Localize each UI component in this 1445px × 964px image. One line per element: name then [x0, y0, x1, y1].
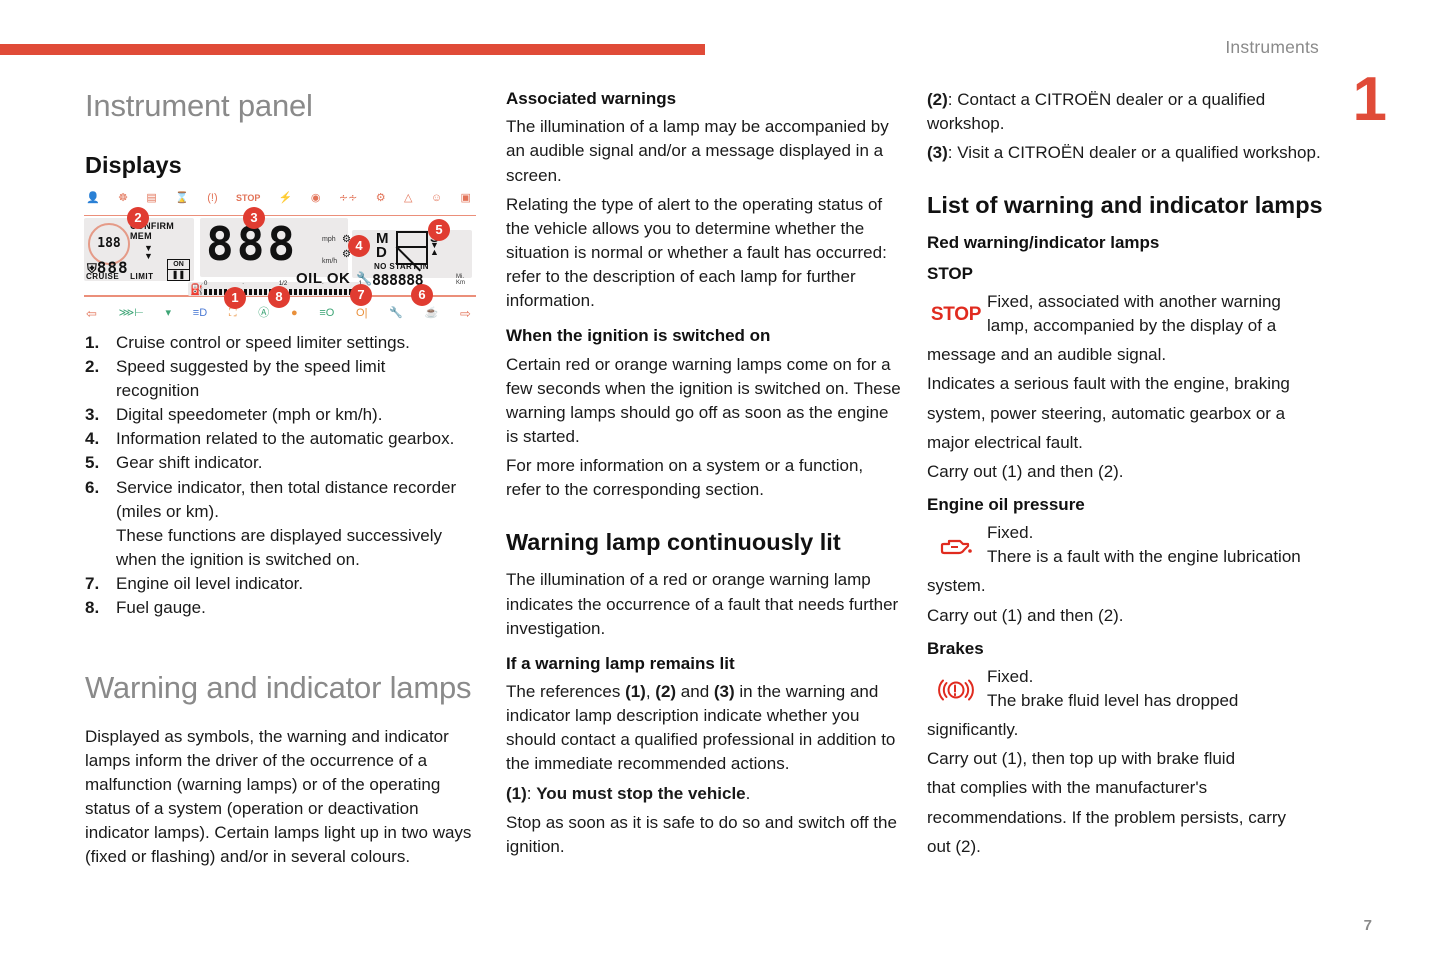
rear-fog-icon: ⋙⊢ — [119, 308, 144, 319]
seatbelt-rear-icon: ● — [291, 308, 298, 319]
parking-lights-icon: O| — [356, 308, 367, 319]
lamp-stop-body-4: major electrical fault. — [927, 431, 1325, 455]
lamp-brakes-body-1: significantly. — [927, 718, 1325, 742]
stop-text-icon: STOP — [927, 292, 985, 338]
mem-label: MEM — [130, 231, 152, 241]
cruise-label: CRUISE — [86, 272, 119, 281]
door-open-icon: △ — [404, 193, 412, 204]
speed-limit-value: 188 — [97, 236, 120, 251]
oil-pressure-icon: ☸ — [118, 193, 128, 204]
lamp-stop-body-5: Carry out (1) and then (2). — [927, 460, 1325, 484]
indicator-right-icon: ⇨ — [460, 307, 471, 320]
lamp-name-oil-pressure: Engine oil pressure — [927, 494, 1325, 515]
ref-1-label: (1) — [506, 784, 527, 803]
child-seat-icon: ☺ — [431, 193, 442, 204]
ref-2-label: (2) — [927, 90, 948, 109]
stop-icon: STOP — [236, 194, 260, 203]
warning-lamps-title: Warning and indicator lamps — [85, 670, 482, 707]
lamp-brakes-body-4: recommendations. If the problem persists… — [927, 806, 1325, 830]
oil-can-icon — [927, 523, 985, 569]
list-item-text: Fuel gauge. — [116, 596, 482, 620]
list-item: 7.Engine oil level indicator. — [85, 572, 482, 596]
lamp-stop-body-1: message and an audible signal. — [927, 343, 1325, 367]
list-item-text: Information related to the automatic gea… — [116, 427, 482, 451]
callout-4: 4 — [348, 235, 370, 257]
displays-heading: Displays — [85, 151, 482, 179]
callout-8: 8 — [268, 286, 290, 308]
red-lamps-heading: Red warning/indicator lamps — [927, 232, 1325, 253]
lamp-brakes-line-2: The brake fluid level has dropped — [987, 689, 1325, 713]
list-item-text: Cruise control or speed limiter settings… — [116, 331, 482, 355]
lamp-list-title: List of warning and indicator lamps — [927, 191, 1325, 219]
lamp-brakes-body-2: Carry out (1), then top up with brake fl… — [927, 747, 1325, 771]
lamp-oil-body-1: system. — [927, 574, 1325, 598]
list-item: 1.Cruise control or speed limiter settin… — [85, 331, 482, 355]
list-item-number: 2. — [85, 355, 99, 379]
telltale-row-bottom: ⇦ ⋙⊢ ▾ ≡D ⛶ Ⓐ ● ≡O O| 🔧 ☕ ⇨ — [86, 307, 471, 320]
instrument-panel-figure: 👤‍ ☸ ▤ ⌛ (!) STOP ⚡ ◉ ∻∻ ⚙ △ ☺ ▣ 188 CON… — [84, 193, 476, 321]
list-item-number: 7. — [85, 572, 99, 596]
electrical-fault-icon: ⚡ — [279, 193, 293, 204]
screenwash-icon: ☕ — [425, 308, 439, 319]
brake-warning-icon: (!) — [207, 193, 217, 204]
header-chapter-label: Instruments — [1225, 37, 1319, 58]
down-arrows-icon: ▼▼ — [144, 244, 153, 260]
front-fog-icon: ≡O — [319, 308, 334, 319]
chapter-number-marker: 1 — [1353, 74, 1387, 127]
camera-icon: ▣ — [460, 193, 470, 204]
ref-1-inline: (1) — [625, 682, 646, 701]
pause-icon: ❚❚ — [168, 269, 189, 280]
fuel-pump-icon: ⛽ — [190, 283, 204, 296]
seatbelt-icon: 👤‍ — [86, 193, 100, 204]
oil-can-icon-svg — [939, 535, 973, 557]
ref-3-inline: (3) — [714, 682, 735, 701]
associated-warnings-p1: The illumination of a lamp may be accomp… — [506, 115, 902, 187]
list-item: 8.Fuel gauge. — [85, 596, 482, 620]
continuously-lit-title: Warning lamp continuously lit — [506, 528, 902, 556]
column-left: Instrument panel Displays 👤‍ ☸ ▤ ⌛ (!) S… — [85, 88, 482, 875]
list-item-number: 3. — [85, 403, 99, 427]
ref-1-bold-text: You must stop the vehicle — [536, 784, 745, 803]
continuously-lit-body: The illumination of a red or orange warn… — [506, 568, 902, 640]
lamp-brakes-line-1: Fixed. — [987, 665, 1325, 689]
lamp-oil-body-2: Carry out (1) and then (2). — [927, 604, 1325, 628]
list-item-number: 8. — [85, 596, 99, 620]
callout-3: 3 — [243, 207, 265, 229]
lamp-stop-line-2: lamp, accompanied by the display of a — [987, 314, 1325, 338]
cruise-limit-labels: CRUISE LIMIT — [86, 272, 154, 281]
callout-1: 1 — [224, 287, 246, 309]
cruise-on-toggle-indicator: ON ❚❚ — [167, 259, 190, 281]
lamp-entry-brakes: Fixed. The brake fluid level has dropped — [927, 665, 1325, 713]
lamp-entry-oil-pressure: Fixed. There is a fault with the engine … — [927, 521, 1325, 569]
no-start-in-label: NO START IN — [374, 262, 429, 271]
airbag-icon: ◉ — [311, 193, 321, 204]
fuel-low-icon: ⛶ — [229, 308, 237, 319]
list-item-number: 1. — [85, 331, 99, 355]
ref-1-colon: : — [527, 784, 536, 803]
list-item: 2.Speed suggested by the speed limitreco… — [85, 355, 482, 403]
callout-2: 2 — [127, 207, 149, 229]
list-item-number: 4. — [85, 427, 99, 451]
gear-shift-arrows-icon: ▼▲ — [430, 242, 439, 257]
lamp-name-stop: STOP — [927, 263, 1325, 284]
lamp-oil-inline-text: Fixed. There is a fault with the engine … — [987, 521, 1325, 569]
lamp-stop-body-3: system, power steering, automatic gearbo… — [927, 402, 1325, 426]
gear-indicator-box — [396, 231, 428, 265]
list-item-text-cont: recognition — [116, 379, 482, 403]
list-item-text: Engine oil level indicator. — [116, 572, 482, 596]
limit-label: LIMIT — [130, 272, 153, 281]
coolant-temp-icon: ⌛ — [175, 193, 189, 204]
lamp-stop-body-2: Indicates a serious fault with the engin… — [927, 372, 1325, 396]
column-middle: Associated warnings The illumination of … — [506, 88, 902, 864]
lamp-stop-inline-text: Fixed, associated with another warning l… — [987, 290, 1325, 338]
lamp-brakes-body-3: that complies with the manufacturer's — [927, 776, 1325, 800]
page-number: 7 — [1364, 917, 1372, 934]
on-label: ON — [168, 260, 189, 269]
side-lights-icon: ≡D — [193, 308, 207, 319]
battery-charge-icon: ▤ — [146, 193, 156, 204]
header-accent-bar — [0, 44, 705, 55]
list-item: 5.Gear shift indicator. — [85, 451, 482, 475]
glow-plug-icon: ∻∻ — [339, 193, 357, 204]
ref-1-follow-text: Stop as soon as it is safe to do so and … — [506, 811, 902, 859]
ignition-heading: When the ignition is switched on — [506, 325, 902, 346]
ref-1-period: . — [746, 784, 751, 803]
unit-mph-label: mph — [322, 236, 336, 243]
gear-mode-letters: MD — [376, 232, 389, 261]
associated-warnings-p2: Relating the type of alert to the operat… — [506, 193, 902, 314]
ref-3-text: : Visit a CITROËN dealer or a qualified … — [948, 143, 1321, 162]
list-item-text-cont: (miles or km). — [116, 500, 482, 524]
page-title: Instrument panel — [85, 88, 482, 125]
list-item: 6.Service indicator, then total distance… — [85, 476, 482, 573]
list-item-text: Service indicator, then total distance r… — [116, 476, 482, 500]
list-item-text-cont: when the ignition is switched on. — [116, 548, 482, 572]
remains-lit-paragraph: The references (1), (2) and (3) in the w… — [506, 680, 902, 777]
list-item: 3.Digital speedometer (mph or km/h). — [85, 403, 482, 427]
telltale-row-top: 👤‍ ☸ ▤ ⌛ (!) STOP ⚡ ◉ ∻∻ ⚙ △ ☺ ▣ — [86, 193, 471, 204]
ignition-p2: For more information on a system or a fu… — [506, 454, 902, 502]
list-item-text: Speed suggested by the speed limit — [116, 355, 482, 379]
brake-warning-icon-svg — [938, 676, 974, 704]
ref-sep1: , — [646, 682, 655, 701]
lamp-stop-line-1: Fixed, associated with another warning — [987, 290, 1325, 314]
list-item-number: 5. — [85, 451, 99, 475]
lamp-oil-line-1: Fixed. — [987, 521, 1325, 545]
unit-kmh-label: km/h — [322, 258, 337, 265]
ref-intro: The references — [506, 682, 625, 701]
callout-7: 7 — [350, 284, 372, 306]
direction-green-icon: ▾ — [166, 308, 172, 319]
list-item-text: Gear shift indicator. — [116, 451, 482, 475]
ignition-p1: Certain red or orange warning lamps come… — [506, 353, 902, 450]
lamp-brakes-inline-text: Fixed. The brake fluid level has dropped — [987, 665, 1325, 713]
remains-lit-heading: If a warning lamp remains lit — [506, 653, 902, 674]
odometer-unit-label: Mi.Km — [456, 274, 465, 287]
ref-2-text: : Contact a CITROËN dealer or a qualifie… — [927, 90, 1265, 133]
fuel-tick-0: 0 — [204, 281, 207, 287]
list-item: 4.Information related to the automatic g… — [85, 427, 482, 451]
warning-lamps-body: Displayed as symbols, the warning and in… — [85, 725, 482, 870]
fuel-tick-q1: · — [242, 281, 244, 287]
lamp-oil-line-2: There is a fault with the engine lubrica… — [987, 545, 1325, 569]
list-item-text: Digital speedometer (mph or km/h). — [116, 403, 482, 427]
associated-warnings-heading: Associated warnings — [506, 88, 902, 109]
ref-2-definition: (2): Contact a CITROËN dealer or a quali… — [927, 88, 1325, 136]
auto-mode-icon: Ⓐ — [258, 308, 269, 319]
instrument-key-list: 1.Cruise control or speed limiter settin… — [85, 331, 482, 621]
service-spanner-icon: 🔧 — [389, 308, 403, 319]
callout-6: 6 — [411, 284, 433, 306]
lamp-entry-stop: STOP Fixed, associated with another warn… — [927, 290, 1325, 338]
lamp-name-brakes: Brakes — [927, 638, 1325, 659]
ref-2-inline: (2) — [655, 682, 676, 701]
ref-3-definition: (3): Visit a CITROËN dealer or a qualifi… — [927, 141, 1325, 165]
lamp-brakes-body-5: out (2). — [927, 835, 1325, 859]
list-item-text-cont: These functions are displayed successive… — [116, 524, 482, 548]
ref-3-label: (3) — [927, 143, 948, 162]
stop-glyph-label: STOP — [931, 302, 981, 329]
brake-warning-icon — [927, 667, 985, 713]
ref-1-definition: (1): You must stop the vehicle. — [506, 782, 902, 806]
column-right: (2): Contact a CITROËN dealer or a quali… — [927, 88, 1325, 864]
list-item-number: 6. — [85, 476, 99, 500]
fuel-tick-q3: · — [322, 281, 324, 287]
engine-fault-icon: ⚙ — [376, 193, 386, 204]
indicator-left-icon: ⇦ — [86, 307, 97, 320]
ref-sep2: and — [676, 682, 714, 701]
callout-5: 5 — [428, 219, 450, 241]
